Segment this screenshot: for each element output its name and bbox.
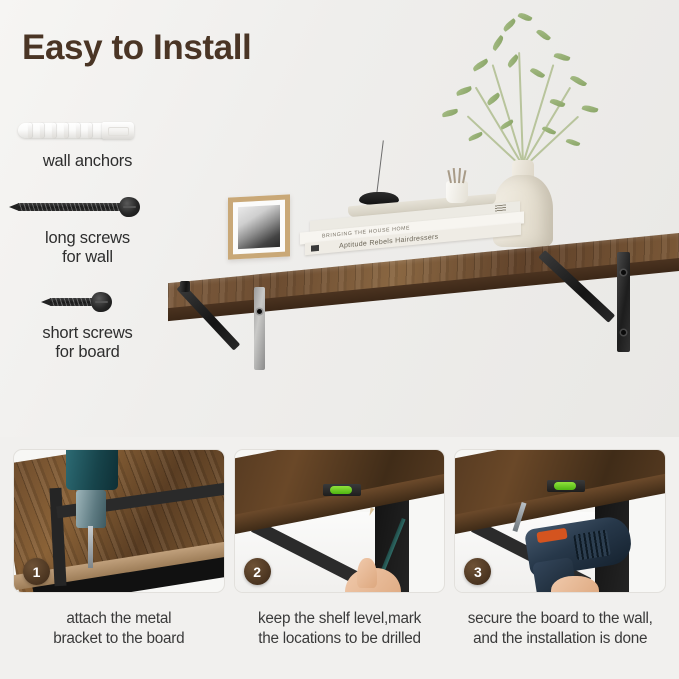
caption-line1: attach the metal [66,610,171,627]
thin-rod [376,140,384,196]
caption-line2: the locations to be drilled [258,630,420,647]
step-3: 3 secure the board to the wall, and the … [454,449,666,679]
step-3-photo: 3 [454,449,666,593]
level-vial [554,482,576,490]
part-long-screws: long screws for wall [0,185,175,267]
picture-frame [228,194,290,259]
caption-line1: secure the board to the wall, [468,610,653,627]
left-bracket-corner [180,281,190,292]
part-label: long screws for wall [0,229,175,267]
book-grid-mark [495,204,506,212]
drill-chuck [76,490,106,528]
installation-steps: 1 attach the metal bracket to the board … [0,440,679,679]
step-1: 1 attach the metal bracket to the board [13,449,225,679]
part-label: wall anchors [0,152,175,171]
step-1-caption: attach the metal bracket to the board [13,609,225,648]
right-bracket-plate [617,252,630,352]
screw-hole [257,309,262,314]
caption-line2: and the installation is done [473,630,647,647]
drill-body [66,449,118,490]
wall-anchor-icon [0,108,175,152]
finger [357,558,377,588]
step-number-badge: 1 [23,558,50,585]
screw-hole [621,330,626,335]
step-3-caption: secure the board to the wall, and the in… [454,609,666,648]
part-label-line1: short screws [42,324,132,342]
part-label: short screws for board [0,324,175,362]
level-vial [330,486,352,494]
caption-line2: bracket to the board [53,630,184,647]
drill-bit [88,526,93,568]
hero-section: Easy to Install wall anchors [0,0,679,437]
part-short-screws: short screws for board [0,280,175,362]
bubble-level [547,480,585,492]
left-bracket-plate [254,287,265,370]
step-2: 2 keep the shelf level,mark the location… [234,449,446,679]
step-1-photo: 1 [13,449,225,593]
part-label-line2: for wall [62,248,113,266]
part-label-line2: for board [55,343,119,361]
part-label-line1: long screws [45,229,130,247]
frame-photo [238,205,280,249]
step-2-caption: keep the shelf level,mark the locations … [234,609,446,648]
shelf-product-photo: BRINGING THE HOUSE HOME Aptitude Rebels … [150,0,679,437]
step-2-photo: 2 [234,449,446,593]
drill-vents [574,530,612,561]
caption-line1: keep the shelf level,mark [258,610,421,627]
long-screw-icon [0,185,175,229]
step-number-badge: 2 [244,558,271,585]
brush-cup [446,181,468,203]
short-screw-icon [0,280,175,324]
parts-list: wall anchors long screws for wall [0,108,175,376]
screw-hole [621,270,626,275]
bubble-level [323,484,361,496]
book-icon-mark [311,244,319,251]
part-wall-anchors: wall anchors [0,108,175,171]
